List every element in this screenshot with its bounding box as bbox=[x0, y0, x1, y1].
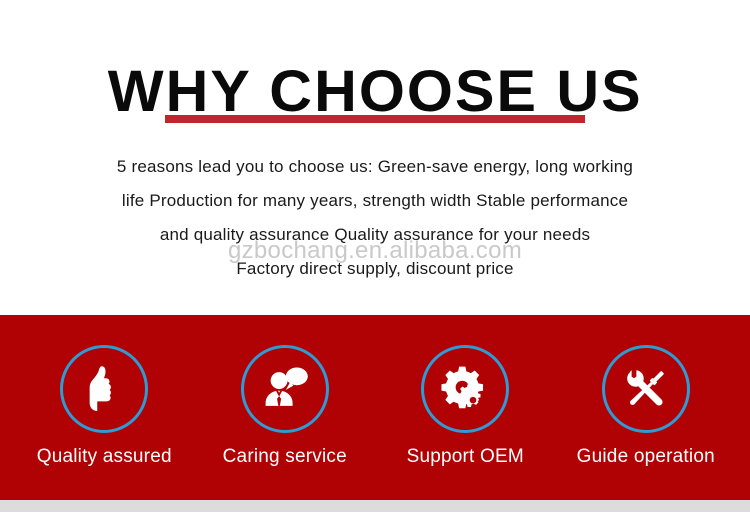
feature-icon-circle bbox=[421, 345, 509, 433]
feature-label: Support OEM bbox=[407, 446, 524, 468]
heading-inner: WHY CHOOSE US bbox=[113, 62, 637, 122]
intro-paragraph: 5 reasons lead you to choose us: Green-s… bbox=[0, 150, 750, 286]
person-speech-bubble-icon bbox=[258, 362, 312, 416]
paragraph-line-1: 5 reasons lead you to choose us: Green-s… bbox=[0, 150, 750, 184]
why-choose-us-banner: WHY CHOOSE US 5 reasons lead you to choo… bbox=[0, 0, 750, 512]
feature-icon-circle bbox=[602, 345, 690, 433]
feature-item-quality-assured[interactable]: Quality assured bbox=[14, 315, 195, 468]
bottom-divider-strip bbox=[0, 500, 750, 512]
feature-label: Guide operation bbox=[577, 446, 715, 468]
feature-item-support-oem[interactable]: Support OEM bbox=[375, 315, 556, 468]
paragraph-line-2: life Production for many years, strength… bbox=[0, 184, 750, 218]
feature-icon-circle bbox=[241, 345, 329, 433]
thumbs-up-icon bbox=[77, 362, 131, 416]
feature-label: Quality assured bbox=[37, 446, 172, 468]
feature-item-guide-operation[interactable]: Guide operation bbox=[556, 315, 737, 468]
heading-container: WHY CHOOSE US bbox=[0, 62, 750, 132]
gears-icon bbox=[438, 362, 492, 416]
feature-icon-circle bbox=[60, 345, 148, 433]
intro-section: WHY CHOOSE US 5 reasons lead you to choo… bbox=[0, 0, 750, 315]
features-section: Quality assured bbox=[0, 315, 750, 500]
feature-label: Caring service bbox=[223, 446, 347, 468]
paragraph-line-3: and quality assurance Quality assurance … bbox=[0, 218, 750, 252]
feature-item-caring-service[interactable]: Caring service bbox=[195, 315, 376, 468]
page-title: WHY CHOOSE US bbox=[108, 62, 643, 122]
features-list: Quality assured bbox=[0, 315, 750, 500]
paragraph-line-4: Factory direct supply, discount price bbox=[0, 252, 750, 286]
wrench-screwdriver-icon bbox=[619, 362, 673, 416]
